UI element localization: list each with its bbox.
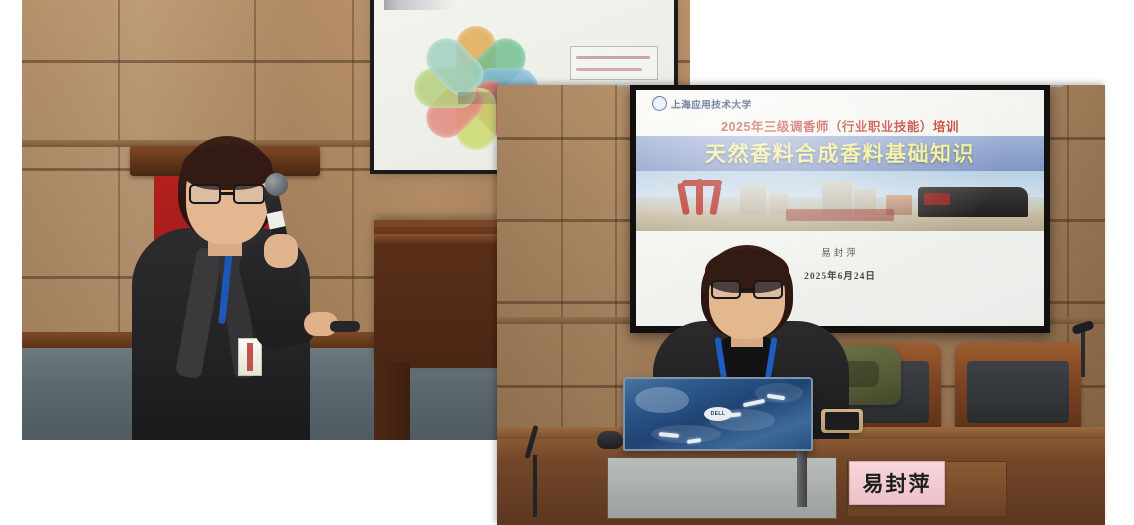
university-name-en: SHANGHAI INSTITUTE OF TECHNOLOGY <box>671 105 749 109</box>
smartphone <box>821 409 863 433</box>
slide-campus-banner <box>636 171 1044 231</box>
computer-mouse <box>597 431 623 449</box>
screenshot-canvas: 技大学 TECHNOLOGY <box>0 0 1134 525</box>
chair-right <box>955 343 1081 429</box>
table-microphone-left <box>533 455 537 517</box>
nameplate-text: 易封萍 <box>863 468 932 498</box>
left-table-leg <box>374 362 410 440</box>
laptop-lid: DELL <box>623 377 813 451</box>
table-microphone-right <box>1081 329 1085 377</box>
presenter-standing <box>126 140 326 440</box>
slide-subtitle: 2025年三级调香师（行业职业技能）培训 <box>636 116 1044 135</box>
photo-right: 上海应用技术大学 SHANGHAI INSTITUTE OF TECHNOLOG… <box>497 85 1105 525</box>
presentation-clicker <box>330 321 360 332</box>
eyeglasses-icon <box>189 184 265 204</box>
eyeglasses-icon-seated <box>711 280 783 299</box>
left-slide-textbox <box>570 46 658 80</box>
nameplate: 易封萍 <box>849 461 945 505</box>
campus-gate-sign <box>786 209 894 221</box>
name-badge <box>238 338 262 376</box>
left-slide-logo <box>384 0 504 10</box>
steam-locomotive <box>918 187 1028 217</box>
dell-logo-icon: DELL <box>704 407 732 421</box>
slide-presenter-name: 易封萍 <box>636 245 1044 259</box>
slide-title: 天然香料合成香料基础知识 <box>636 138 1044 168</box>
campus-sculpture <box>676 179 728 215</box>
university-seal-icon <box>652 96 667 111</box>
